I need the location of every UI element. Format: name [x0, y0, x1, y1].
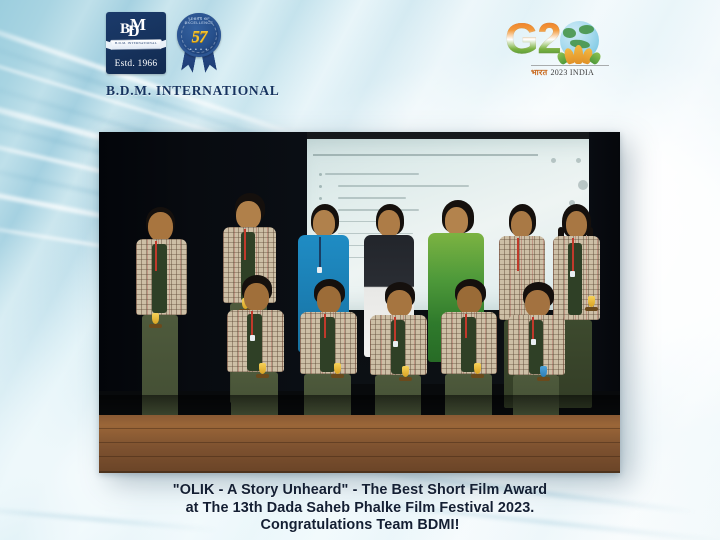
g20-divider [531, 65, 609, 66]
excellence-medal-icon: YEARS OF EXCELLENCE 57 • • • • [173, 12, 225, 74]
bdm-crest-logo: B D M B.D.M. INTERNATIONAL Estd. 1966 [106, 12, 166, 74]
g20-year-country-text: 2023 INDIA [550, 68, 594, 77]
logo-row: B D M B.D.M. INTERNATIONAL Estd. 1966 YE… [106, 12, 386, 74]
crest-ribbon-motto: B.D.M. INTERNATIONAL [106, 41, 166, 45]
g20-bharat-text: भारत [531, 68, 547, 77]
medal-arc-text: YEARS OF EXCELLENCE [177, 17, 221, 25]
caption-line-2: at The 13th Dada Saheb Phalke Film Festi… [0, 500, 720, 518]
award-caption: "OLIK - A Story Unheard" - The Best Shor… [0, 482, 720, 535]
crest-established-text: Estd. 1966 [106, 59, 166, 69]
crest-letter-m: M [130, 16, 146, 33]
poster-canvas: B D M B.D.M. INTERNATIONAL Estd. 1966 YE… [0, 0, 720, 540]
stage-floor [99, 415, 620, 473]
caption-line-3: Congratulations Team BDMI! [0, 517, 720, 535]
school-branding: B D M B.D.M. INTERNATIONAL Estd. 1966 YE… [106, 12, 386, 99]
medal-years-number: 57 [177, 27, 221, 47]
g20-wordmark: G2 [505, 18, 560, 61]
award-photo-frame [99, 132, 620, 473]
school-name-text: B.D.M. INTERNATIONAL [106, 83, 386, 99]
g20-lotus-icon [557, 42, 602, 64]
medal-disc: YEARS OF EXCELLENCE 57 • • • • [177, 13, 221, 57]
g20-logo: G2 भारत2023 INDIA [505, 18, 615, 80]
caption-line-1: "OLIK - A Story Unheard" - The Best Shor… [0, 482, 720, 500]
medal-dots: • • • • [177, 47, 221, 53]
award-group-photo [99, 132, 620, 473]
g20-subtitle: भारत2023 INDIA [531, 67, 619, 78]
